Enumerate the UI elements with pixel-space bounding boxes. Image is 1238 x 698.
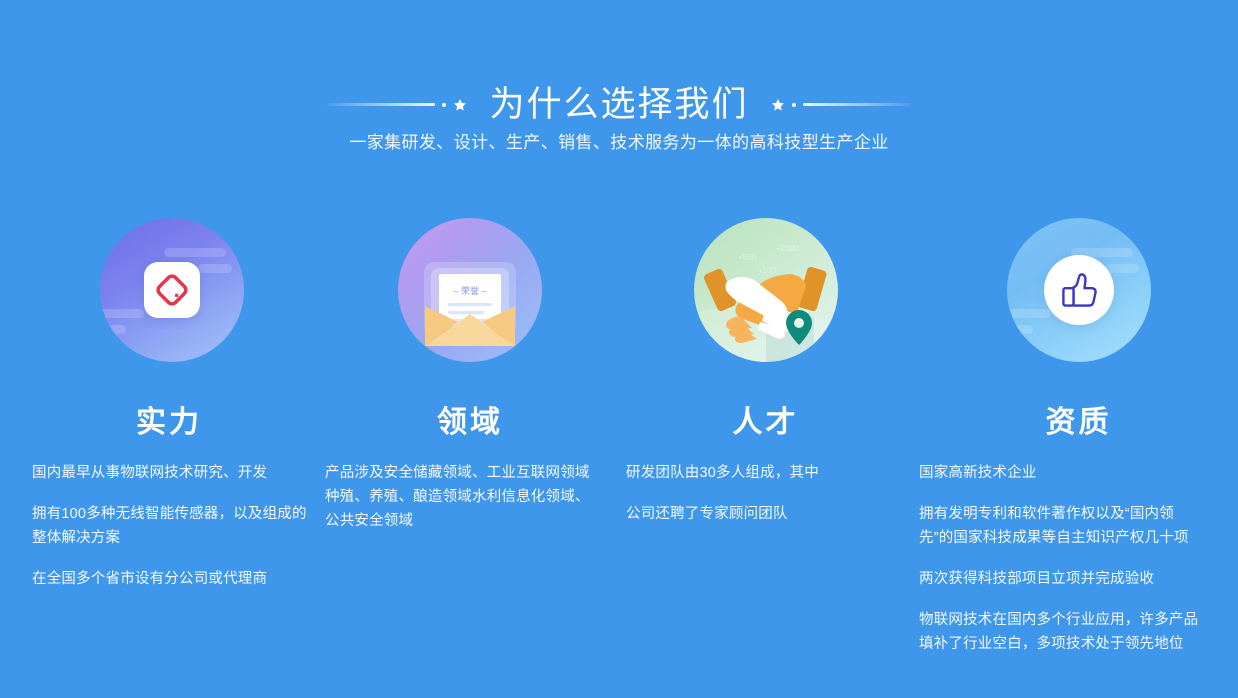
bullet-item: 国内最早从事物联网技术研究、开发 — [32, 461, 320, 485]
feature-bullets-quality: 国家高新技术企业 拥有发明专利和软件著作权以及“国内领先”的国家科技成果等自主知… — [919, 461, 1204, 656]
envelope-certificate-icon: – 荣誉 – — [398, 218, 542, 362]
feature-title-talent: 人才 — [626, 406, 905, 439]
feature-title-quality: 资质 — [919, 406, 1238, 439]
star-icon-left — [453, 98, 467, 112]
feature-bullets-strength: 国内最早从事物联网技术研究、开发 拥有100多种无线智能传感器，以及组成的整体解… — [32, 461, 320, 591]
feature-columns: 实力 国内最早从事物联网技术研究、开发 拥有100多种无线智能传感器，以及组成的… — [0, 200, 1238, 656]
star-icon-right — [771, 98, 785, 112]
icon-glyph-wrap — [100, 218, 244, 362]
icon-glyph-wrap — [1007, 218, 1151, 362]
decoration-dot-left — [442, 103, 446, 107]
page-subtitle: 一家集研发、设计、生产、销售、技术服务为一体的高科技型生产企业 — [0, 128, 1238, 153]
bullet-item: 国家高新技术企业 — [919, 461, 1204, 485]
bullet-item: 物联网技术在国内多个行业应用，许多产品填补了行业空白，多项技术处于领先地位 — [919, 608, 1204, 656]
white-tile — [144, 262, 200, 318]
icon-glyph-wrap: +500 +2000 +100 — [694, 218, 838, 362]
icon-glyph-wrap: – 荣誉 – — [398, 218, 542, 362]
bullet-item: 研发团队由30多人组成，其中 — [626, 461, 874, 485]
bullet-item: 公司还聘了专家顾问团队 — [626, 502, 874, 526]
feature-column-quality: 资质 国家高新技术企业 拥有发明专利和软件著作权以及“国内领先”的国家科技成果等… — [905, 200, 1238, 656]
feature-column-field: – 荣誉 – 领域 产品涉及安全储藏领域、工业互联网领域种殖、养殖、酿造 — [312, 200, 615, 656]
feature-column-strength: 实力 国内最早从事物联网技术研究、开发 拥有100多种无线智能传感器，以及组成的… — [0, 200, 312, 656]
white-disc — [1044, 255, 1114, 325]
page-title: 为什么选择我们 — [467, 87, 770, 122]
icon-container-field: – 荣誉 – — [325, 200, 615, 390]
decoration-dot-right — [792, 103, 796, 107]
svg-text:+2000: +2000 — [776, 244, 799, 253]
decoration-line-left — [327, 103, 435, 106]
bullet-item: 在全国多个省市设有分公司或代理商 — [32, 567, 320, 591]
bullet-item: 拥有发明专利和软件著作权以及“国内领先”的国家科技成果等自主知识产权几十项 — [919, 502, 1204, 550]
bullet-item: 产品涉及安全储藏领域、工业互联网领域种殖、养殖、酿造领域水利信息化领域、公共安全… — [325, 461, 603, 533]
title-decoration-right — [771, 93, 911, 117]
icon-container-strength — [32, 200, 312, 390]
feature-bullets-field: 产品涉及安全储藏领域、工业互联网领域种殖、养殖、酿造领域水利信息化领域、公共安全… — [325, 461, 603, 533]
feature-title-strength: 实力 — [32, 406, 312, 439]
feature-bullets-talent: 研发团队由30多人组成，其中 公司还聘了专家顾问团队 — [626, 461, 874, 526]
handshake-icon: +500 +2000 +100 — [694, 218, 838, 362]
feature-column-talent: +500 +2000 +100 — [615, 200, 905, 656]
feature-title-field: 领域 — [325, 406, 615, 439]
decoration-line-right — [803, 103, 911, 106]
svg-text:+500: +500 — [738, 253, 757, 262]
letter-label: – 荣誉 – — [453, 285, 486, 296]
svg-text:+100: +100 — [758, 266, 777, 275]
title-decoration-left — [327, 93, 467, 117]
icon-container-quality — [919, 200, 1238, 390]
thumbs-up-icon — [1007, 218, 1151, 362]
diamond-tile-icon — [100, 218, 244, 362]
bullet-item: 两次获得科技部项目立项并完成验收 — [919, 567, 1204, 591]
icon-container-talent: +500 +2000 +100 — [626, 200, 905, 390]
section-header: 为什么选择我们 一家集研发、设计、生产、销售、技术服务为一体的高科技型生产企业 — [0, 0, 1238, 175]
bullet-item: 拥有100多种无线智能传感器，以及组成的整体解决方案 — [32, 502, 320, 550]
